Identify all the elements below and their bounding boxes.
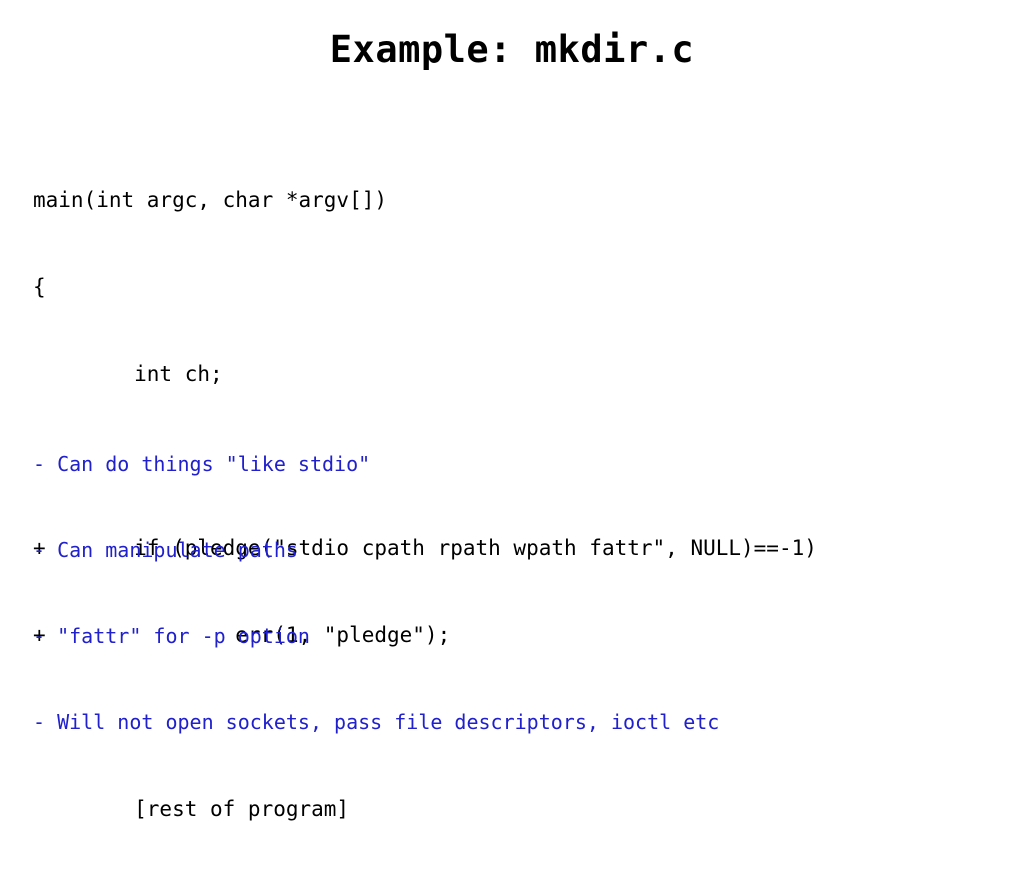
code-line: [rest of program] (33, 795, 817, 824)
list-item: - Can do things "like stdio" (33, 450, 719, 479)
code-line: main(int argc, char *argv[]) (33, 186, 817, 215)
code-line: { (33, 273, 817, 302)
list-item: - Will not open sockets, pass file descr… (33, 708, 719, 737)
bullet-list: - Can do things "like stdio" - Can manip… (33, 393, 719, 793)
slide-canvas: Example: mkdir.c main(int argc, char *ar… (0, 0, 1024, 768)
list-item: - Can manipulate paths (33, 536, 719, 565)
page-title: Example: mkdir.c (0, 28, 1024, 71)
list-item: - "fattr" for -p option (33, 622, 719, 651)
code-line: int ch; (33, 360, 817, 389)
